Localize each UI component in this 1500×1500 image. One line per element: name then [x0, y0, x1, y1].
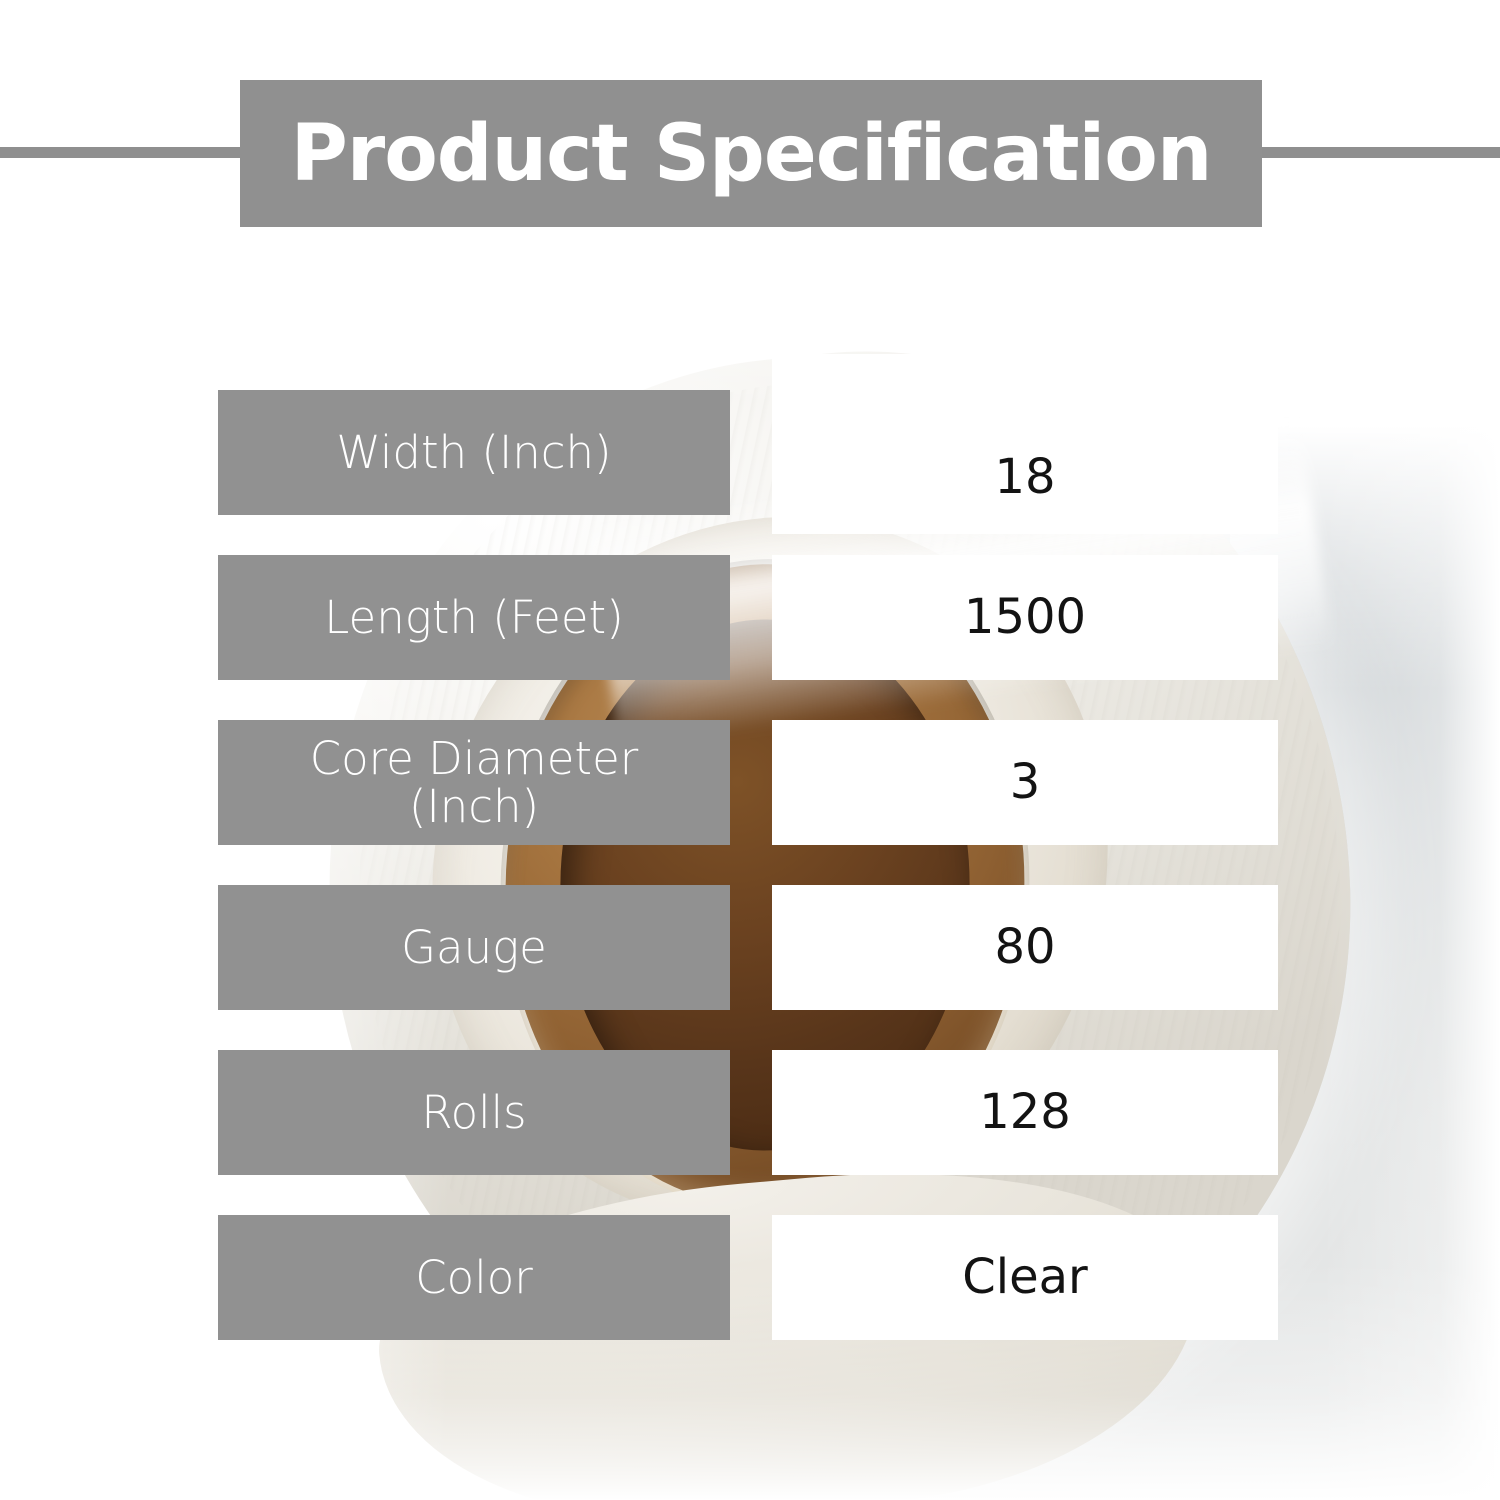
spec-value-rolls: 128 [772, 1050, 1278, 1175]
spec-label-gauge: Gauge [218, 885, 730, 1010]
row-gutter [730, 1215, 772, 1340]
row-gutter [730, 1050, 772, 1175]
page-title: Product Specification [291, 115, 1212, 193]
table-row: Length (Feet) 1500 [218, 555, 1280, 680]
spec-value-length: 1500 [772, 555, 1278, 680]
spec-value-color: Clear [772, 1215, 1278, 1340]
table-row: Rolls 128 [218, 1050, 1280, 1175]
spec-label-width: Width (Inch) [218, 390, 730, 515]
row-gutter [730, 885, 772, 1010]
spec-label-color: Color [218, 1215, 730, 1340]
spec-value-width: 18 [772, 354, 1278, 534]
table-row: Core Diameter(Inch) 3 [218, 720, 1280, 845]
row-gutter [730, 555, 772, 680]
row-gutter [730, 390, 772, 515]
spec-value-core-diameter: 3 [772, 720, 1278, 845]
header-banner: Product Specification [240, 80, 1262, 227]
product-specification-page: Product Specification Width (Inch) 18 Le… [0, 0, 1500, 1500]
spec-label-length: Length (Feet) [218, 555, 730, 680]
row-gutter [730, 720, 772, 845]
spec-value-gauge: 80 [772, 885, 1278, 1010]
spec-label-rolls: Rolls [218, 1050, 730, 1175]
specification-table: Width (Inch) 18 Length (Feet) 1500 Core … [218, 390, 1280, 1340]
spec-label-core-diameter: Core Diameter(Inch) [218, 720, 730, 845]
table-row: Gauge 80 [218, 885, 1280, 1010]
table-row: Width (Inch) 18 [218, 390, 1280, 515]
table-row: Color Clear [218, 1215, 1280, 1340]
